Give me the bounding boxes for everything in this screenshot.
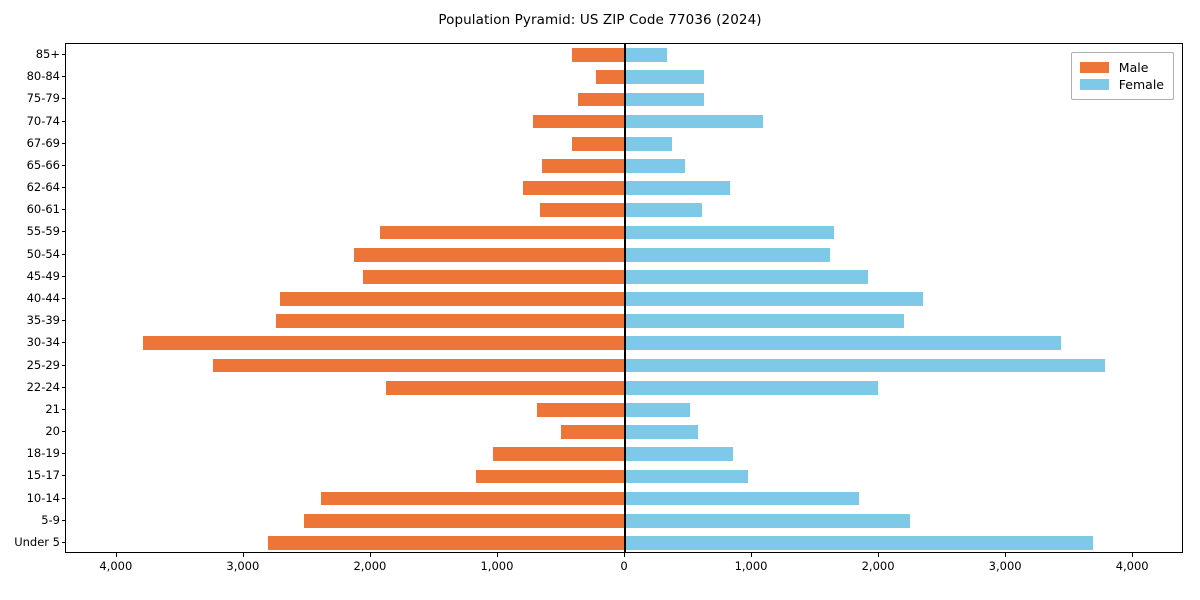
y-tick-label: 45-49 — [27, 269, 60, 283]
population-pyramid-figure: Population Pyramid: US ZIP Code 77036 (2… — [0, 0, 1200, 600]
x-tick — [370, 553, 371, 557]
y-tick-label: 21 — [45, 402, 60, 416]
bar-female — [625, 270, 868, 284]
bar-female — [625, 93, 704, 107]
y-tick-label: 18-19 — [27, 446, 60, 460]
y-tick-label: 65-66 — [27, 158, 60, 172]
bar-male — [533, 115, 625, 129]
bar-female — [625, 381, 878, 395]
x-tick — [497, 553, 498, 557]
y-tick-label: 35-39 — [27, 313, 60, 327]
y-tick-label: 50-54 — [27, 247, 60, 261]
legend-label-female: Female — [1119, 77, 1164, 92]
y-tick — [62, 453, 66, 454]
bar-female — [625, 248, 830, 262]
y-tick — [62, 121, 66, 122]
y-tick-label: 70-74 — [27, 114, 60, 128]
legend-swatch-male — [1080, 62, 1109, 73]
bar-female — [625, 292, 923, 306]
y-tick — [62, 431, 66, 432]
y-tick-label: 30-34 — [27, 335, 60, 349]
bar-female — [625, 470, 748, 484]
bar-male — [304, 514, 625, 528]
x-tick — [878, 553, 879, 557]
y-tick — [62, 187, 66, 188]
bar-female — [625, 492, 859, 506]
bar-male — [268, 536, 625, 550]
bar-female — [625, 403, 690, 417]
y-tick-label: 75-79 — [27, 91, 60, 105]
bar-female — [625, 181, 730, 195]
bar-female — [625, 536, 1093, 550]
y-tick — [62, 165, 66, 166]
bar-female — [625, 137, 672, 151]
x-tick — [1132, 553, 1133, 557]
y-tick-label: 25-29 — [27, 358, 60, 372]
bar-male — [380, 226, 625, 240]
x-tick-label: 1,000 — [480, 559, 513, 573]
legend-item-male: Male — [1080, 59, 1164, 76]
bar-male — [572, 48, 625, 62]
bar-male — [386, 381, 625, 395]
x-tick — [751, 553, 752, 557]
y-tick — [62, 143, 66, 144]
bar-male — [523, 181, 625, 195]
y-tick — [62, 320, 66, 321]
legend-swatch-female — [1080, 79, 1109, 90]
y-tick — [62, 231, 66, 232]
y-tick — [62, 298, 66, 299]
y-tick — [62, 520, 66, 521]
bar-male — [276, 314, 625, 328]
bar-female — [625, 115, 763, 129]
bar-male — [578, 93, 625, 107]
bar-male — [537, 403, 625, 417]
x-tick-label: 0 — [620, 559, 627, 573]
bar-male — [280, 292, 625, 306]
y-tick-label: 20 — [45, 424, 60, 438]
x-tick-label: 1,000 — [735, 559, 768, 573]
bar-female — [625, 226, 834, 240]
y-tick — [62, 98, 66, 99]
chart-title: Population Pyramid: US ZIP Code 77036 (2… — [0, 12, 1200, 28]
x-tick-label: 4,000 — [1116, 559, 1149, 573]
legend-label-male: Male — [1119, 60, 1149, 75]
bar-female — [625, 70, 704, 84]
y-tick-label: 10-14 — [27, 491, 60, 505]
bar-female — [625, 203, 702, 217]
x-tick — [116, 553, 117, 557]
y-tick-label: 67-69 — [27, 136, 60, 150]
y-tick-label: 80-84 — [27, 69, 60, 83]
bar-male — [321, 492, 625, 506]
y-tick — [62, 409, 66, 410]
y-tick — [62, 209, 66, 210]
bar-male — [572, 137, 625, 151]
bar-male — [213, 359, 625, 373]
y-tick — [62, 542, 66, 543]
y-tick — [62, 475, 66, 476]
bar-female — [625, 159, 685, 173]
bar-male — [363, 270, 625, 284]
legend-item-female: Female — [1080, 76, 1164, 93]
x-tick-label: 3,000 — [989, 559, 1022, 573]
y-tick — [62, 276, 66, 277]
bar-female — [625, 514, 910, 528]
x-tick — [243, 553, 244, 557]
x-tick — [1005, 553, 1006, 557]
y-tick-label: 62-64 — [27, 180, 60, 194]
bar-male — [596, 70, 625, 84]
y-tick — [62, 54, 66, 55]
bar-male — [476, 470, 625, 484]
chart-legend: Male Female — [1071, 52, 1174, 100]
y-tick — [62, 342, 66, 343]
y-tick — [62, 387, 66, 388]
bar-female — [625, 425, 698, 439]
y-tick-label: 5-9 — [41, 513, 60, 527]
zero-axis-line — [624, 44, 625, 552]
y-tick — [62, 254, 66, 255]
x-tick-label: 2,000 — [353, 559, 386, 573]
y-tick-label: 55-59 — [27, 224, 60, 238]
y-tick-label: 15-17 — [27, 468, 60, 482]
bar-female — [625, 48, 667, 62]
y-tick — [62, 76, 66, 77]
bar-male — [542, 159, 625, 173]
x-tick-label: 3,000 — [226, 559, 259, 573]
bar-female — [625, 314, 904, 328]
bar-male — [354, 248, 625, 262]
x-tick-label: 2,000 — [862, 559, 895, 573]
bar-male — [493, 447, 625, 461]
plot-area: Male Female — [65, 43, 1183, 553]
bar-male — [143, 336, 625, 350]
x-tick-label: 4,000 — [99, 559, 132, 573]
y-tick-label: 40-44 — [27, 291, 60, 305]
y-tick-label: Under 5 — [14, 535, 60, 549]
y-tick-label: 22-24 — [27, 380, 60, 394]
bar-female — [625, 447, 733, 461]
y-tick-label: 60-61 — [27, 202, 60, 216]
y-tick — [62, 365, 66, 366]
y-tick — [62, 498, 66, 499]
bar-male — [540, 203, 625, 217]
y-tick-label: 85+ — [36, 47, 60, 61]
x-tick — [624, 553, 625, 557]
bar-female — [625, 336, 1061, 350]
bar-female — [625, 359, 1105, 373]
bar-male — [561, 425, 625, 439]
